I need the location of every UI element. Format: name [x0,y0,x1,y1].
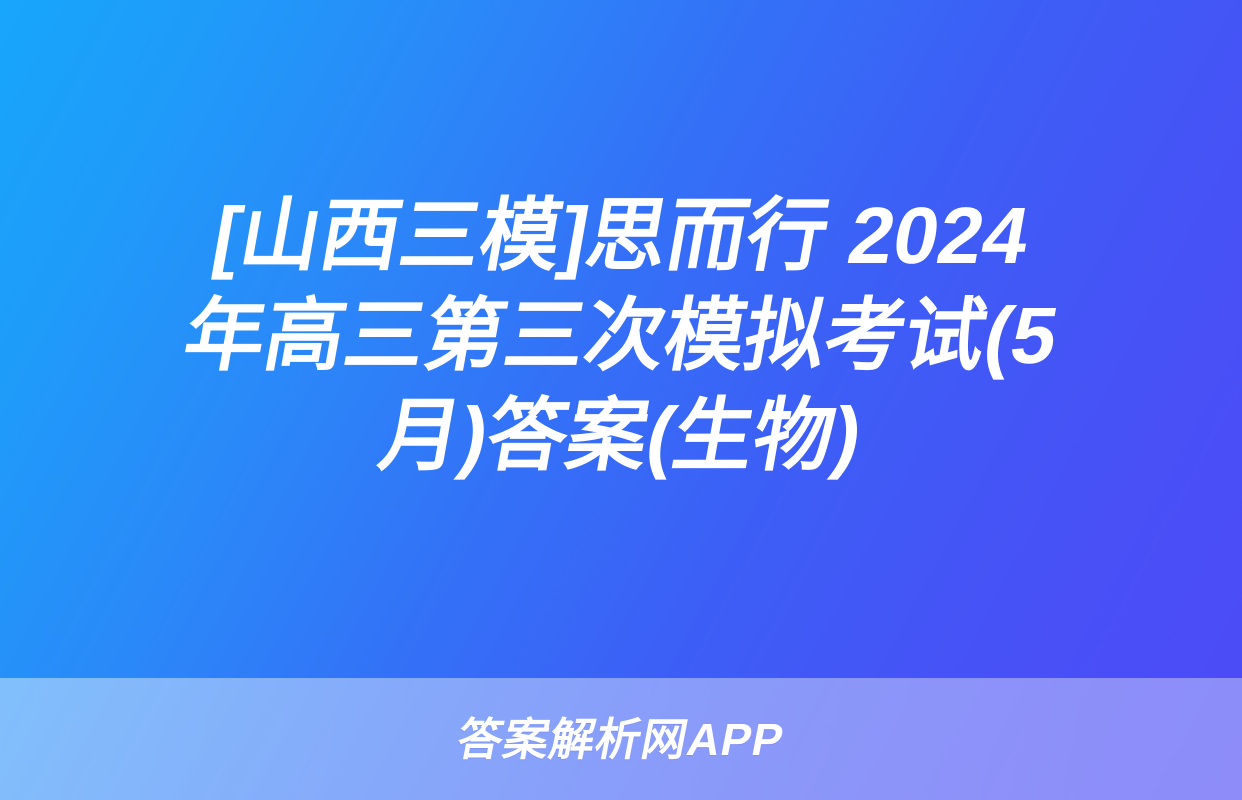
poster-title: [山西三模]思而行 2024 年高三第三次模拟考试(5 月)答案(生物) [0,186,1242,486]
poster-canvas: [山西三模]思而行 2024 年高三第三次模拟考试(5 月)答案(生物) 答案解… [0,0,1242,800]
app-promo-banner-label: 答案解析网APP [454,717,788,762]
title-line-3: 月)答案(生物) [51,386,1191,486]
app-promo-banner: 答案解析网APP [0,678,1242,800]
title-line-1: [山西三模]思而行 2024 [51,186,1191,286]
title-line-2: 年高三第三次模拟考试(5 [51,286,1191,386]
